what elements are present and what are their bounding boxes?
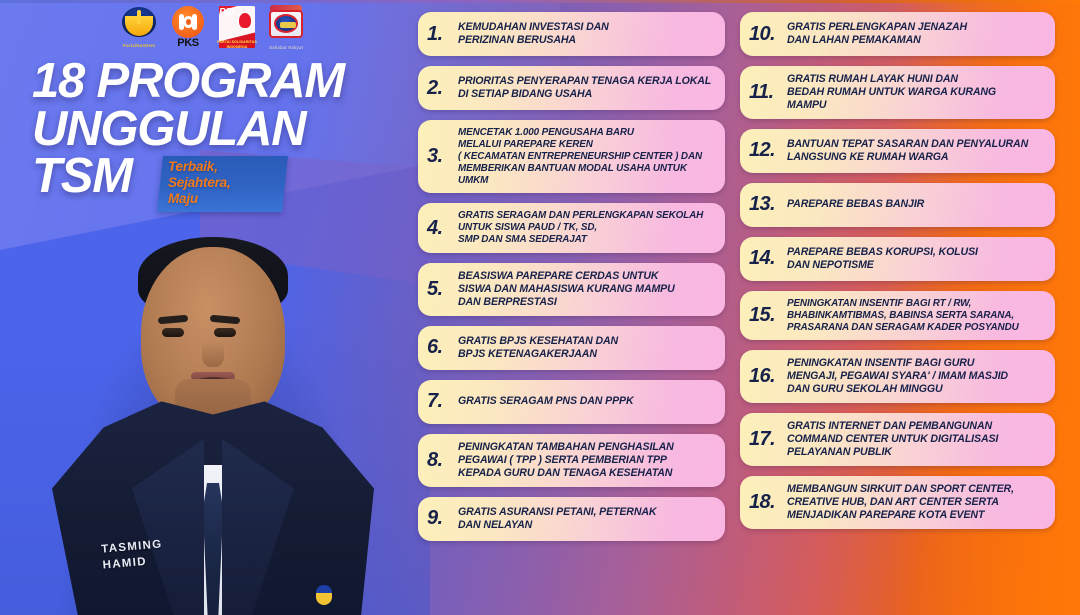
program-card[interactable]: 4. GRATIS SERAGAM DAN PERLENGKAPAN SEKOL…	[418, 203, 725, 253]
suit-embroidered-name: TASMING HAMID	[101, 537, 165, 573]
program-text: PAREPARE BEBAS KORUPSI, KOLUSI DAN NEPOT…	[787, 246, 1043, 272]
program-text: GRATIS SERAGAM DAN PERLENGKAPAN SEKOLAH …	[458, 210, 713, 246]
pks-logo: PKS	[167, 4, 209, 50]
program-number: 16.	[749, 365, 787, 388]
program-card[interactable]: 5. BEASISWA PAREPARE CERDAS UNTUK SISWA …	[418, 263, 725, 316]
psi-rose-icon	[239, 13, 251, 28]
program-number: 8.	[427, 449, 458, 472]
pks-wordmark: PKS	[167, 37, 209, 49]
party-logo-row: PartaiNasDem PKS PSI PARTAI SOLIDARITAS …	[118, 4, 307, 50]
fourth-party-emblem	[274, 14, 298, 33]
program-card[interactable]: 7. GRATIS SERAGAM PNS DAN PPPK	[418, 380, 725, 424]
program-number: 4.	[427, 217, 458, 240]
program-card[interactable]: 10. GRATIS PERLENGKAPAN JENAZAH DAN LAHA…	[740, 12, 1055, 56]
nasdem-notch	[137, 10, 141, 24]
program-number: 7.	[427, 390, 458, 413]
program-text: GRATIS PERLENGKAPAN JENAZAH DAN LAHAN PE…	[787, 21, 1043, 47]
program-number: 15.	[749, 304, 787, 327]
program-card[interactable]: 6. GRATIS BPJS KESEHATAN DAN BPJS KETENA…	[418, 326, 725, 370]
lapel-pin-crescent	[316, 593, 332, 605]
program-card[interactable]: 17. GRATIS INTERNET DAN PEMBANGUNAN COMM…	[740, 413, 1055, 466]
program-text: BANTUAN TEPAT SASARAN DAN PENYALURAN LAN…	[787, 138, 1043, 164]
portrait-eye-right	[214, 328, 236, 337]
program-card[interactable]: 8. PENINGKATAN TAMBAHAN PENGHASILAN PEGA…	[418, 434, 725, 487]
pks-center-emblem	[183, 16, 194, 28]
program-text: PENINGKATAN TAMBAHAN PENGHASILAN PEGAWAI…	[458, 441, 713, 480]
program-card[interactable]: 16. PENINGKATAN INSENTIF BAGI GURU MENGA…	[740, 350, 1055, 403]
program-number: 13.	[749, 193, 787, 216]
program-text: GRATIS ASURANSI PETANI, PETERNAK DAN NEL…	[458, 506, 713, 532]
program-number: 17.	[749, 428, 787, 451]
psi-logo: PSI PARTAI SOLIDARITAS INDONESIA	[216, 4, 258, 50]
program-card[interactable]: 13. PAREPARE BEBAS BANJIR	[740, 183, 1055, 227]
program-number: 6.	[427, 336, 458, 359]
program-number: 9.	[427, 507, 458, 530]
portrait-nose	[202, 341, 224, 367]
tagline-text: Terbaik, Sejahtera, Maju	[168, 159, 231, 207]
program-card[interactable]: 12. BANTUAN TEPAT SASARAN DAN PENYALURAN…	[740, 129, 1055, 173]
program-card[interactable]: 11. GRATIS RUMAH LAYAK HUNI DAN BEDAH RU…	[740, 66, 1055, 119]
program-column-right: 10. GRATIS PERLENGKAPAN JENAZAH DAN LAHA…	[740, 12, 1055, 529]
program-card[interactable]: 15. PENINGKATAN INSENTIF BAGI RT / RW, B…	[740, 291, 1055, 341]
program-number: 3.	[427, 145, 458, 168]
program-text: GRATIS SERAGAM PNS DAN PPPK	[458, 395, 713, 408]
psi-wordmark: PSI	[219, 7, 234, 18]
portrait-eye-left	[162, 328, 184, 337]
program-text: MEMBANGUN SIRKUIT DAN SPORT CENTER, CREA…	[787, 483, 1043, 522]
campaign-poster: PartaiNasDem PKS PSI PARTAI SOLIDARITAS …	[0, 0, 1080, 615]
program-number: 12.	[749, 139, 787, 162]
background-top-strip	[0, 0, 1080, 3]
program-text: BEASISWA PAREPARE CERDAS UNTUK SISWA DAN…	[458, 270, 713, 309]
nasdem-logo: PartaiNasDem	[118, 4, 160, 50]
program-card[interactable]: 9. GRATIS ASURANSI PETANI, PETERNAK DAN …	[418, 497, 725, 541]
program-number: 1.	[427, 23, 458, 46]
program-card[interactable]: 2. PRIORITAS PENYERAPAN TENAGA KERJA LOK…	[418, 66, 725, 110]
program-text: GRATIS BPJS KESEHATAN DAN BPJS KETENAGAK…	[458, 335, 713, 361]
program-text: GRATIS RUMAH LAYAK HUNI DAN BEDAH RUMAH …	[787, 73, 1043, 112]
program-card[interactable]: 3. MENCETAK 1.000 PENGUSAHA BARU MELALUI…	[418, 120, 725, 193]
program-number: 2.	[427, 77, 458, 100]
program-number: 11.	[749, 81, 787, 104]
lapel-pin-icon	[314, 585, 334, 609]
program-text: PRIORITAS PENYERAPAN TENAGA KERJA LOKAL …	[458, 75, 713, 101]
program-text: GRATIS INTERNET DAN PEMBANGUNAN COMMAND …	[787, 420, 1043, 459]
program-text: PENINGKATAN INSENTIF BAGI RT / RW, BHABI…	[787, 298, 1043, 334]
fourth-party-logo: Sahabat Rakyat	[265, 4, 307, 50]
program-card[interactable]: 1. KEMUDAHAN INVESTASI DAN PERIZINAN BER…	[418, 12, 725, 56]
program-text: PAREPARE BEBAS BANJIR	[787, 198, 1043, 211]
fourth-party-sublabel: Sahabat Rakyat	[265, 45, 307, 50]
program-text: PENINGKATAN INSENTIF BAGI GURU MENGAJI, …	[787, 357, 1043, 396]
program-column-left: 1. KEMUDAHAN INVESTASI DAN PERIZINAN BER…	[418, 12, 725, 541]
program-text: MENCETAK 1.000 PENGUSAHA BARU MELALUI PA…	[458, 127, 713, 186]
program-number: 14.	[749, 247, 787, 270]
program-text: KEMUDAHAN INVESTASI DAN PERIZINAN BERUSA…	[458, 21, 713, 47]
program-card[interactable]: 18. MEMBANGUN SIRKUIT DAN SPORT CENTER, …	[740, 476, 1055, 529]
program-number: 10.	[749, 23, 787, 46]
nasdem-label: PartaiNasDem	[118, 43, 160, 48]
program-card[interactable]: 14. PAREPARE BEBAS KORUPSI, KOLUSI DAN N…	[740, 237, 1055, 281]
program-number: 18.	[749, 491, 787, 514]
psi-sublabel: PARTAI SOLIDARITAS INDONESIA	[216, 40, 258, 49]
program-number: 5.	[427, 278, 458, 301]
candidate-portrait: TASMING HAMID	[58, 215, 368, 615]
